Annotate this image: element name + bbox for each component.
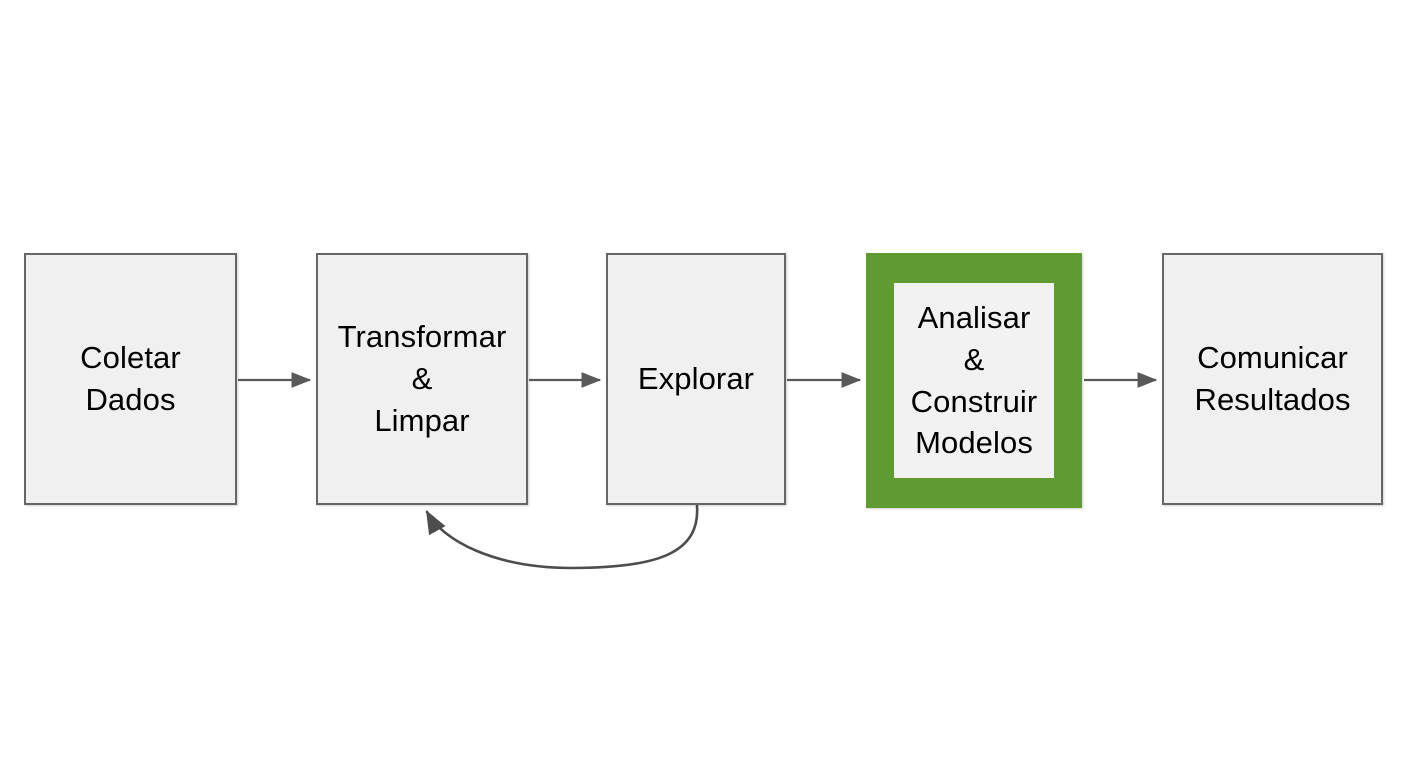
node-highlight-inner: Analisar & Construir Modelos <box>894 283 1054 478</box>
node-label-analisar-construir-modelos: Analisar & Construir Modelos <box>911 297 1038 464</box>
diagram-canvas: Coletar Dados Transformar & Limpar Explo… <box>0 0 1408 768</box>
node-label-comunicar-resultados: Comunicar Resultados <box>1194 337 1350 421</box>
node-transformar-limpar[interactable]: Transformar & Limpar <box>316 253 528 505</box>
node-label-explorar: Explorar <box>638 358 754 400</box>
node-coletar-dados[interactable]: Coletar Dados <box>24 253 237 505</box>
node-comunicar-resultados[interactable]: Comunicar Resultados <box>1162 253 1383 505</box>
edge-explorar-back-to-transformar <box>427 506 697 568</box>
node-analisar-construir-modelos[interactable]: Analisar & Construir Modelos <box>866 253 1082 508</box>
node-explorar[interactable]: Explorar <box>606 253 786 505</box>
node-label-transformar-limpar: Transformar & Limpar <box>338 316 507 442</box>
node-label-coletar-dados: Coletar Dados <box>80 337 181 421</box>
